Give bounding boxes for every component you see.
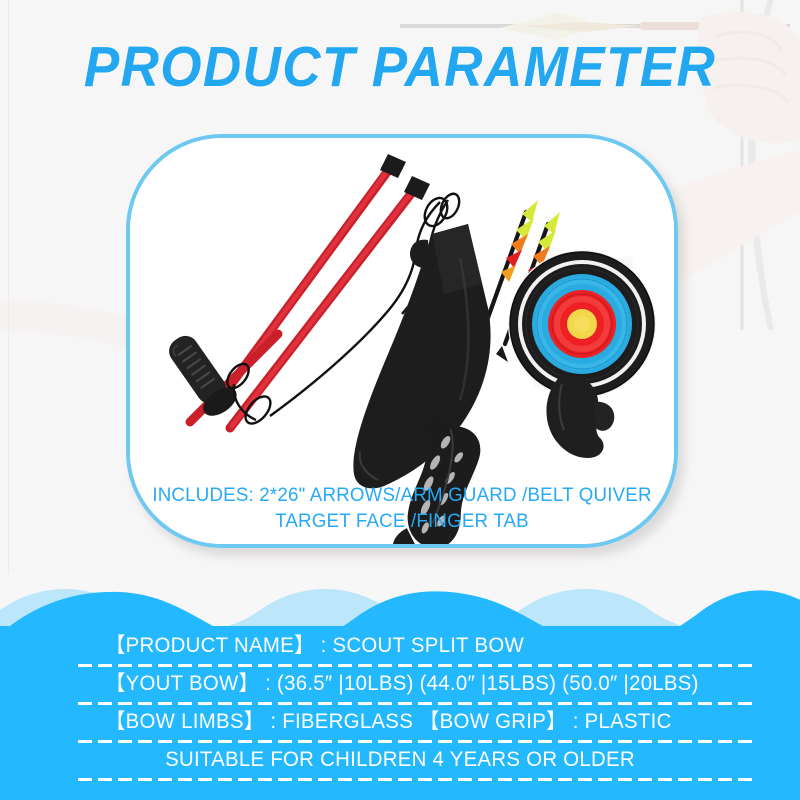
page-edge-line: [8, 0, 9, 600]
page-title: PRODUCT PARAMETER: [28, 34, 772, 100]
spec-row-age: SUITABLE FOR CHILDREN 4 YEARS OR OLDER: [0, 742, 800, 780]
spec-row-bow-limbs: 【BOW LIMBS】 : FIBERGLASS 【BOW GRIP】 : PL…: [0, 704, 800, 742]
spec-text-product-name: 【PRODUCT NAME】 : SCOUT SPLIT BOW: [105, 628, 524, 666]
target-face: [508, 250, 656, 398]
spec-list: 【PRODUCT NAME】 : SCOUT SPLIT BOW 【YOUT B…: [0, 628, 800, 780]
spec-divider: [78, 778, 756, 781]
spec-row-yout-bow: 【YOUT BOW】 : (36.5″ |10LBS) (44.0″ |15LB…: [0, 666, 800, 704]
spec-text-age: SUITABLE FOR CHILDREN 4 YEARS OR OLDER: [12, 742, 788, 780]
includes-caption: INCLUDES: 2*26" ARROWS/ARM GUARD /BELT Q…: [137, 482, 667, 534]
spec-text-yout-bow: 【YOUT BOW】 : (36.5″ |10LBS) (44.0″ |15LB…: [105, 666, 699, 704]
spec-text-bow-limbs: 【BOW LIMBS】 : FIBERGLASS 【BOW GRIP】 : PL…: [105, 704, 672, 742]
includes-line-2: TARGET FACE /FINGER TAB: [137, 508, 667, 534]
includes-line-1: INCLUDES: 2*26" ARROWS/ARM GUARD /BELT Q…: [137, 482, 667, 508]
spec-row-product-name: 【PRODUCT NAME】 : SCOUT SPLIT BOW: [0, 628, 800, 666]
infographic-page: PRODUCT PARAMETER: [0, 0, 800, 800]
